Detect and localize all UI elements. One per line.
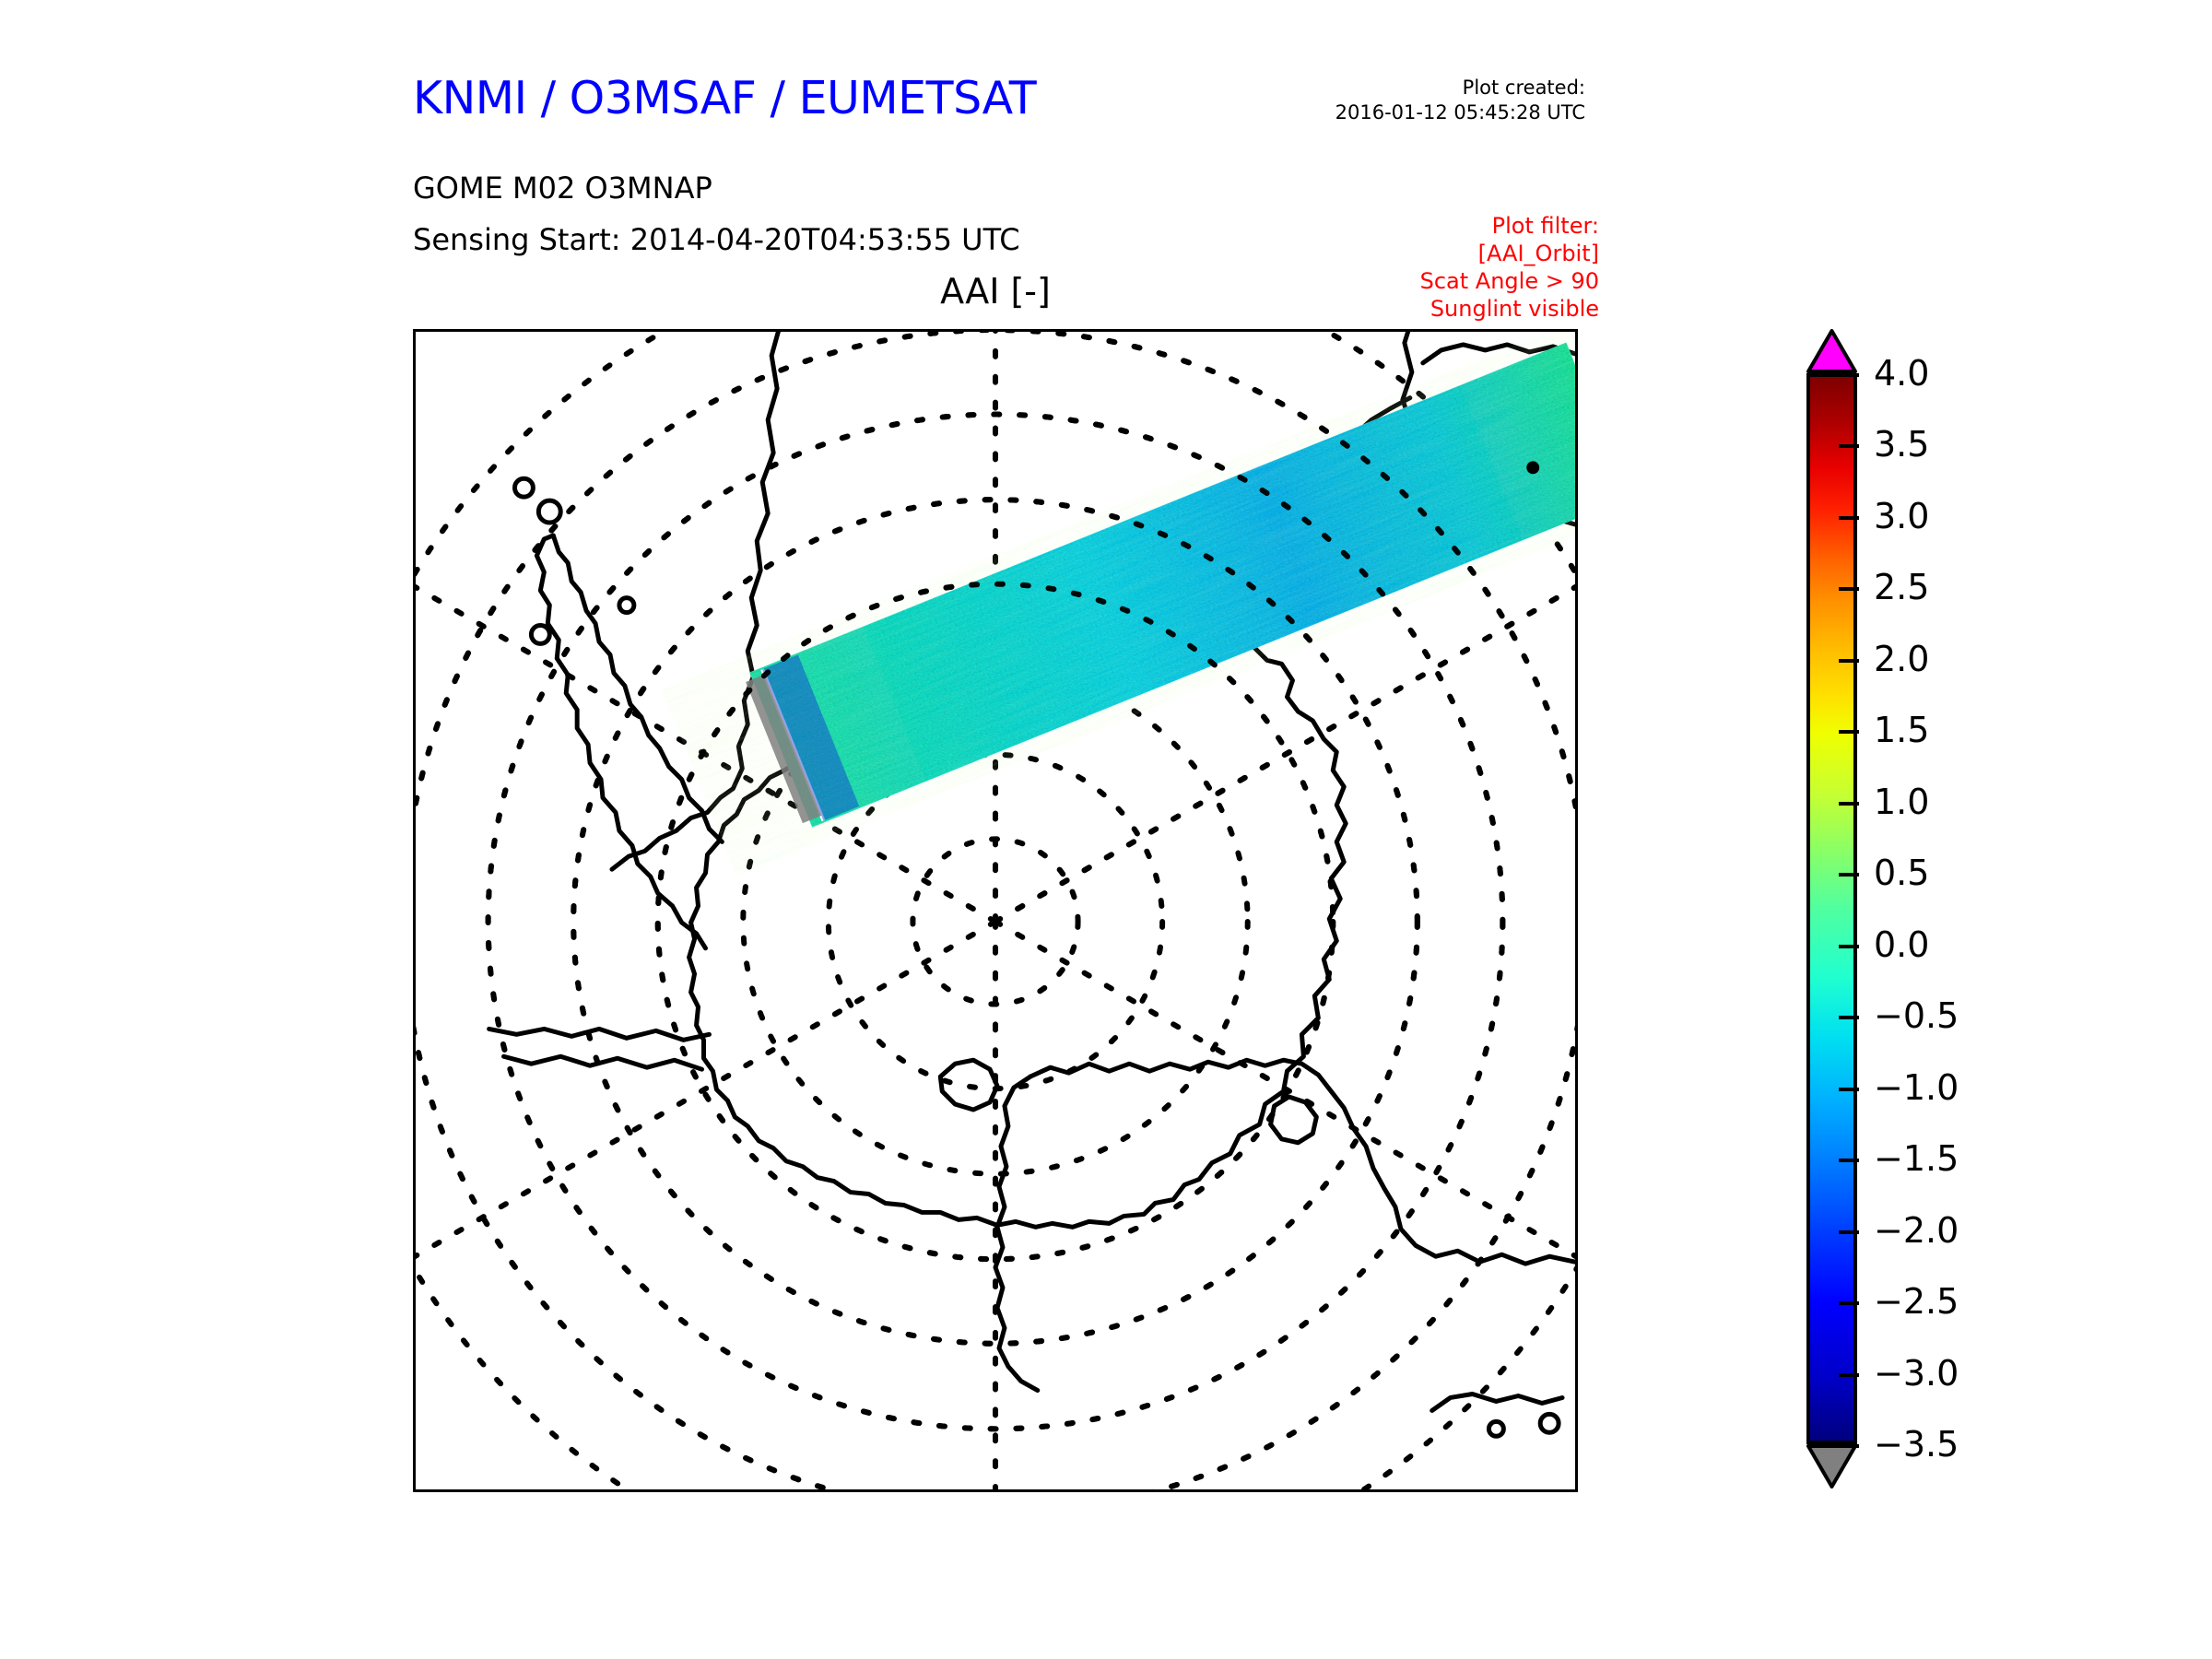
- colorbar-tick: [1839, 1230, 1859, 1234]
- colorbar-tick-label: −1.5: [1874, 1141, 1959, 1176]
- colorbar-tick: [1839, 730, 1859, 734]
- sensing-start: Sensing Start: 2014-04-20T04:53:55 UTC: [413, 222, 1020, 257]
- colorbar-tick-label: 4.0: [1874, 356, 1929, 391]
- plot-created-value: 2016-01-12 05:45:28 UTC: [1272, 100, 1585, 125]
- colorbar-tick: [1839, 1159, 1859, 1162]
- plot-created-label: Plot created:: [1272, 76, 1585, 100]
- coastline-australia: [1030, 1060, 1575, 1264]
- colorbar-tick: [1839, 516, 1859, 520]
- product-name: GOME M02 O3MNAP: [413, 171, 712, 206]
- island-small-2: [538, 500, 560, 523]
- plot-title: AAI [-]: [413, 271, 1578, 312]
- island-southern-ocean-2: [1488, 1421, 1503, 1436]
- aai-swath: [743, 343, 1575, 830]
- organisation-title: KNMI / O3MSAF / EUMETSAT: [413, 72, 1036, 124]
- colorbar-over-range-arrow: [1806, 329, 1857, 373]
- coastline-island-chain-2: [504, 1056, 702, 1069]
- map-point-marker: [1526, 461, 1539, 474]
- colorbar-tick-label: 3.5: [1874, 427, 1929, 462]
- colorbar-tick-label: −3.5: [1874, 1427, 1959, 1462]
- colorbar-tick: [1839, 873, 1859, 877]
- colorbar-tick: [1839, 1301, 1859, 1305]
- colorbar-tick: [1839, 659, 1859, 663]
- coastline-antarctic-peninsula: [553, 535, 722, 841]
- colorbar-tick-label: 1.5: [1874, 712, 1929, 747]
- coastline-new-zealand-south: [1432, 1394, 1562, 1410]
- plot-created-block: Plot created: 2016-01-12 05:45:28 UTC: [1272, 76, 1585, 125]
- island-small-1: [514, 478, 533, 497]
- colorbar-tick: [1839, 373, 1859, 377]
- colorbar-tick: [1839, 945, 1859, 948]
- island-small-4: [619, 598, 634, 613]
- colorbar-tick: [1839, 587, 1859, 591]
- map-plot-area: [413, 329, 1578, 1492]
- colorbar-tick-label: −1.0: [1874, 1070, 1959, 1105]
- colorbar-tick-label: −0.5: [1874, 998, 1959, 1033]
- colorbar-tick-label: −3.0: [1874, 1356, 1959, 1391]
- colorbar: 4.03.53.02.52.01.51.00.50.0−0.5−1.0−1.5−…: [1802, 329, 2189, 1500]
- colorbar-tick: [1839, 444, 1859, 448]
- plot-filter-line-2: [AAI_Orbit]: [1272, 240, 1599, 267]
- colorbar-tick: [1839, 1373, 1859, 1377]
- colorbar-tick-label: 2.0: [1874, 641, 1929, 677]
- colorbar-tick-label: −2.0: [1874, 1213, 1959, 1248]
- colorbar-tick-label: −2.5: [1874, 1284, 1959, 1319]
- colorbar-under-range-arrow: [1806, 1444, 1857, 1488]
- colorbar-tick: [1839, 1016, 1859, 1019]
- plot-filter-line-1: Plot filter:: [1272, 212, 1599, 240]
- colorbar-tick-label: 0.5: [1874, 855, 1929, 890]
- swath-band-streaks: [749, 343, 1575, 828]
- colorbar-tick: [1839, 802, 1859, 806]
- island-small-3: [531, 625, 549, 643]
- colorbar-tick-label: 3.0: [1874, 499, 1929, 534]
- colorbar-tick-label: 0.0: [1874, 927, 1929, 962]
- polar-stereographic-map: [416, 332, 1575, 1489]
- colorbar-tick: [1839, 1088, 1859, 1091]
- colorbar-gradient: [1806, 373, 1857, 1444]
- colorbar-tick-label: 2.5: [1874, 570, 1929, 605]
- island-southern-ocean-1: [1540, 1414, 1559, 1432]
- colorbar-tick-label: 1.0: [1874, 784, 1929, 819]
- colorbar-tick: [1839, 1444, 1859, 1448]
